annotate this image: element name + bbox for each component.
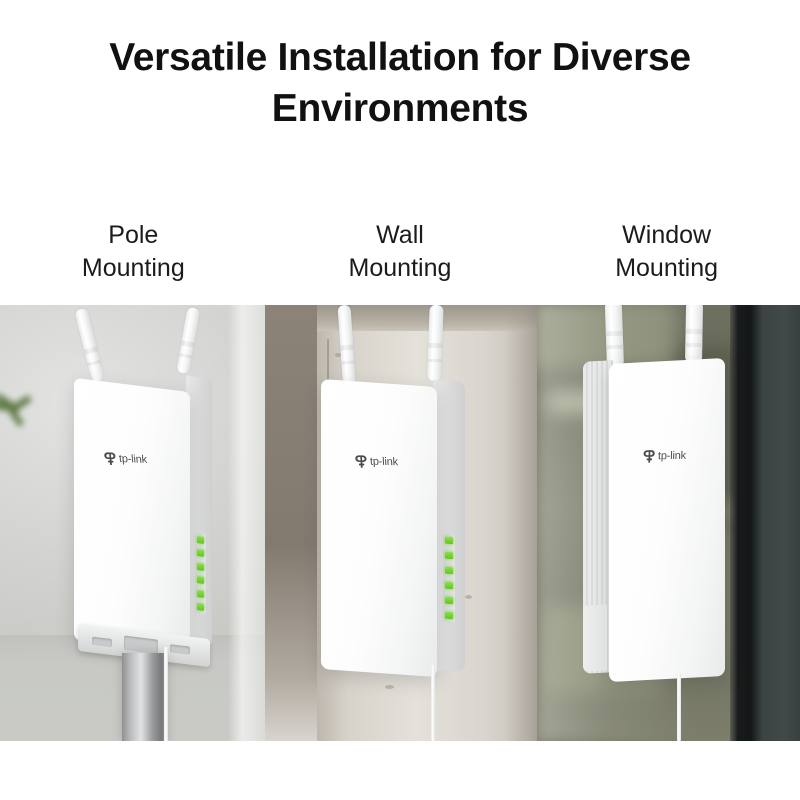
power-cable	[677, 673, 681, 741]
tp-link-mark-icon	[355, 454, 369, 468]
pole-scene-wall-edge	[228, 305, 265, 741]
caption-window-line-1: Window	[533, 219, 800, 252]
power-cable	[431, 665, 435, 741]
led-indicator	[197, 563, 204, 571]
device-front-face: tp-link	[321, 379, 437, 677]
led-indicator	[197, 549, 204, 557]
caption-pole-line-2: Mounting	[0, 252, 267, 285]
photo-window-mounting: tp-link	[537, 305, 800, 741]
bracket-slot	[124, 636, 158, 654]
device-front-face: tp-link	[609, 358, 725, 682]
led-indicator	[445, 597, 452, 605]
page-title-line-2: Environments	[272, 87, 528, 130]
mounting-pole	[122, 653, 167, 741]
tp-link-mark-icon	[103, 451, 117, 466]
page-title: Versatile Installation for Diverse Envir…	[0, 32, 800, 134]
led-indicator-strip	[195, 533, 206, 614]
tp-link-logo: tp-link	[355, 454, 399, 469]
caption-wall-mounting: Wall Mounting	[267, 219, 534, 285]
antenna-right	[685, 305, 703, 363]
plant-leaf-icon	[0, 383, 56, 435]
device-port-cover	[583, 604, 607, 671]
window-frame	[737, 305, 800, 741]
concrete-speck	[465, 595, 472, 599]
caption-window-mounting: Window Mounting	[533, 219, 800, 285]
led-indicator	[445, 552, 452, 560]
led-indicator	[445, 612, 452, 620]
concrete-speck	[385, 685, 394, 689]
caption-pole-mounting: Pole Mounting	[0, 219, 267, 285]
bracket-slot	[170, 644, 190, 654]
bracket-slot	[92, 637, 112, 647]
led-indicator	[197, 536, 204, 544]
marketing-image-page: Versatile Installation for Diverse Envir…	[0, 0, 800, 800]
photo-pole-mounting: tp-link	[0, 305, 265, 741]
photo-wall-mounting: tp-link	[265, 305, 537, 741]
device-front-face: tp-link	[74, 378, 190, 654]
led-indicator	[445, 537, 452, 545]
product-photo-strip: tp-link	[0, 305, 800, 741]
power-cable	[164, 647, 168, 741]
page-title-line-1: Versatile Installation for Diverse	[109, 36, 691, 79]
led-indicator	[197, 603, 204, 611]
antenna-left	[605, 305, 624, 367]
led-indicator	[197, 576, 204, 584]
tp-link-logo: tp-link	[643, 449, 686, 464]
caption-row: Pole Mounting Wall Mounting Window Mount…	[0, 219, 800, 285]
antenna-right	[427, 305, 444, 381]
concrete-pillar-right-shading	[505, 305, 537, 741]
tp-link-wordmark: tp-link	[119, 453, 148, 466]
tp-link-logo: tp-link	[103, 451, 147, 467]
caption-wall-line-2: Mounting	[267, 252, 534, 285]
led-indicator	[445, 582, 452, 590]
caption-window-line-2: Mounting	[533, 252, 800, 285]
caption-pole-line-1: Pole	[0, 219, 267, 252]
caption-wall-line-1: Wall	[267, 219, 534, 252]
window-frame-edge	[730, 305, 737, 741]
tp-link-mark-icon	[643, 449, 656, 463]
tp-link-wordmark: tp-link	[658, 450, 686, 463]
device-side-panel	[433, 380, 465, 672]
tp-link-wordmark: tp-link	[370, 456, 399, 469]
led-indicator-strip	[443, 533, 455, 622]
led-indicator	[445, 567, 452, 575]
led-indicator	[197, 590, 204, 598]
